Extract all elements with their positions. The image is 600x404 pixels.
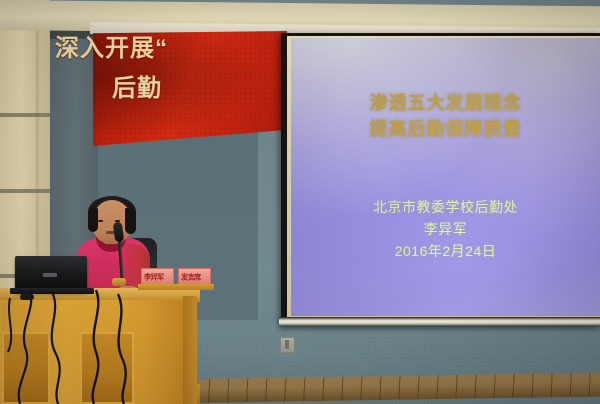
projection-screen-surface: 渗透五大发展理念 提高后勤保障质量 北京市教委学校后勤处 李异军 2016年2月… bbox=[291, 38, 600, 316]
slide-title: 渗透五大发展理念 提高后勤保障质量 bbox=[291, 90, 600, 142]
slide-subtitle: 北京市教委学校后勤处 李异军 2016年2月24日 bbox=[291, 196, 600, 262]
lecture-hall-photo: 深入开展“ 后勤 渗透五大发展理念 提高后勤保障质量 北京市教委学校后勤处 李异… bbox=[0, 0, 600, 404]
wall-power-outlet bbox=[280, 337, 295, 353]
banner-line-2: 后勤 bbox=[112, 68, 196, 103]
slide-title-line-1: 渗透五大发展理念 bbox=[291, 90, 600, 116]
name-card-2-text: 发言席 bbox=[181, 272, 200, 282]
banner-line-1: 深入开展“ bbox=[55, 28, 195, 63]
slide-organization: 北京市教委学校后勤处 bbox=[291, 196, 600, 218]
slide-title-line-2: 提高后勤保障质量 bbox=[291, 116, 600, 142]
slide-presenter: 李异军 bbox=[291, 218, 600, 240]
laptop-logo bbox=[43, 273, 57, 277]
speaker-hair-right bbox=[125, 208, 136, 234]
microphone-base bbox=[112, 278, 126, 286]
slide-date: 2016年2月24日 bbox=[291, 240, 600, 262]
cable-group bbox=[0, 288, 230, 404]
speaker-hair-left bbox=[88, 208, 98, 232]
wall-panel-seam bbox=[0, 189, 50, 193]
laptop-screen bbox=[15, 256, 87, 292]
name-card-1-text: 李异军 bbox=[144, 272, 163, 282]
banner-text-group: 深入开展“ 后勤 bbox=[0, 0, 194, 115]
speaker-eye-left bbox=[98, 220, 103, 222]
projection-screen-bottom-rail bbox=[279, 317, 600, 326]
